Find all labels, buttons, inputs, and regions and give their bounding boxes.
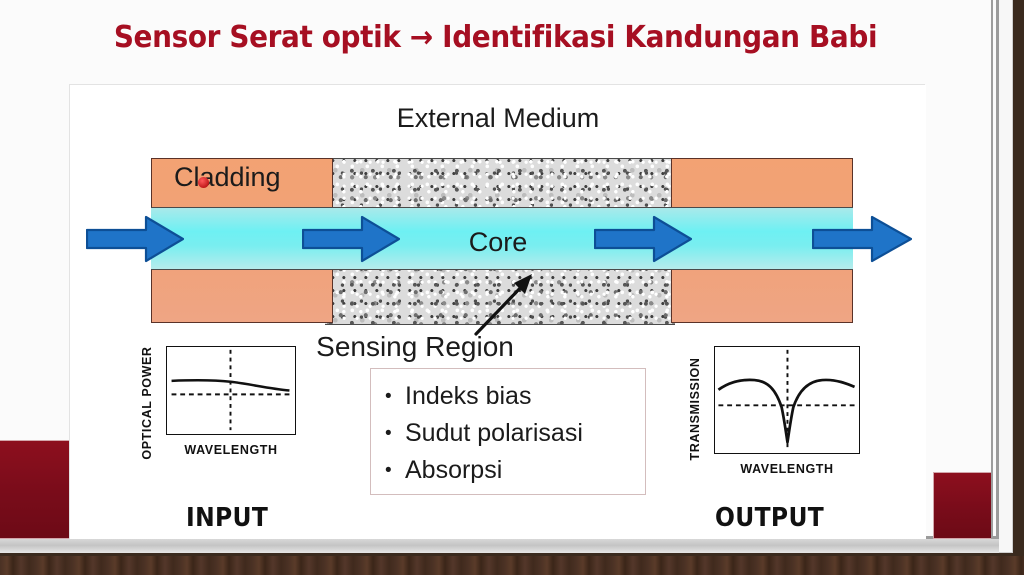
list-item: Indeks bias: [405, 378, 645, 415]
input-plot-curve: [167, 347, 294, 433]
output-plot-frame: [714, 346, 860, 454]
input-caption: INPUT: [186, 503, 268, 533]
label-core: Core: [70, 227, 926, 258]
list-item: Absorpsi: [405, 452, 645, 489]
slide-surface: Sensor Serat optik → Identifikasi Kandun…: [0, 0, 999, 539]
output-plot-xlabel: WAVELENGTH: [714, 462, 860, 476]
list-item: Sudut polarisasi: [405, 415, 645, 452]
page-title: Sensor Serat optik → Identifikasi Kandun…: [33, 20, 958, 55]
slide-bottom-rail: [0, 539, 999, 553]
sensing-parameters-list: Indeks bias Sudut polarisasi Absorpsi: [371, 369, 645, 489]
video-frame: Sensor Serat optik → Identifikasi Kandun…: [0, 0, 1024, 575]
label-external-medium: External Medium: [70, 103, 926, 134]
accent-block-left: [0, 441, 72, 538]
accent-block-right: [934, 473, 992, 538]
sensing-parameters-box: Indeks bias Sudut polarisasi Absorpsi: [370, 368, 646, 495]
output-caption: OUTPUT: [715, 503, 824, 533]
desk-strip: [0, 556, 1024, 575]
slide-edge-rule: [991, 0, 993, 539]
input-plot-xlabel: WAVELENGTH: [166, 443, 296, 457]
output-plot-curve: [715, 347, 858, 452]
output-plot-ylabel: TRANSMISSION: [688, 350, 704, 468]
sensing-region-callout-arrow: [470, 270, 540, 338]
label-cladding: Cladding: [174, 162, 281, 193]
fiber-sensor-diagram: External Medium Cladding Core: [70, 85, 926, 540]
input-plot-ylabel: OPTICAL POWER: [140, 344, 156, 462]
cursor-pointer-dot: [198, 177, 209, 188]
input-plot-frame: [166, 346, 296, 435]
presentation-slide: Sensor Serat optik → Identifikasi Kandun…: [0, 0, 1012, 552]
